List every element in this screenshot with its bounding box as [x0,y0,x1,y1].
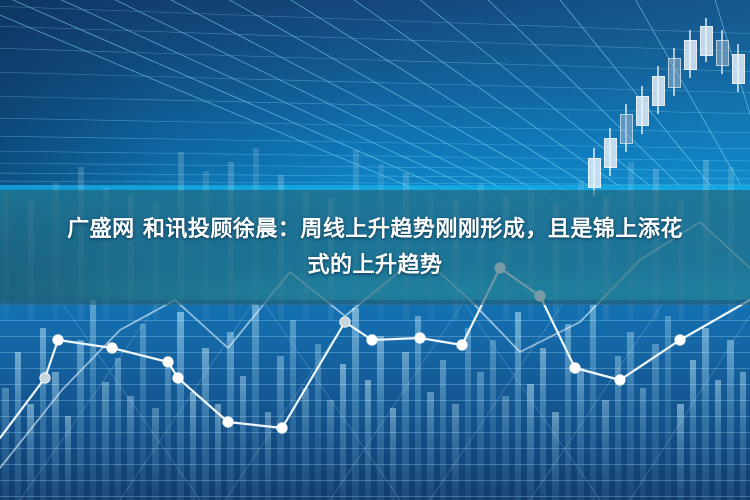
data-point-marker [277,423,287,433]
data-point-marker [163,357,173,367]
data-point-marker [367,335,377,345]
data-point-marker [570,363,580,373]
title-line-1: 广盛网 和讯投顾徐晨：周线上升趋势刚刚形成，且是锦上添花 [67,215,683,245]
title-line-2: 式的上升趋势 [307,251,442,281]
data-point-marker [415,333,425,343]
data-point-marker [40,373,50,383]
data-point-marker [675,335,685,345]
title-block: 广盛网 和讯投顾徐晨：周线上升趋势刚刚形成，且是锦上添花 式的上升趋势 [0,190,750,305]
data-point-marker [615,375,625,385]
data-point-marker [173,373,183,383]
data-point-marker [340,317,350,327]
data-point-marker [107,343,117,353]
promo-banner-image: 广盛网 和讯投顾徐晨：周线上升趋势刚刚形成，且是锦上添花 式的上升趋势 [0,0,750,500]
data-point-marker [457,340,467,350]
data-point-marker [223,417,233,427]
data-point-marker [53,335,63,345]
